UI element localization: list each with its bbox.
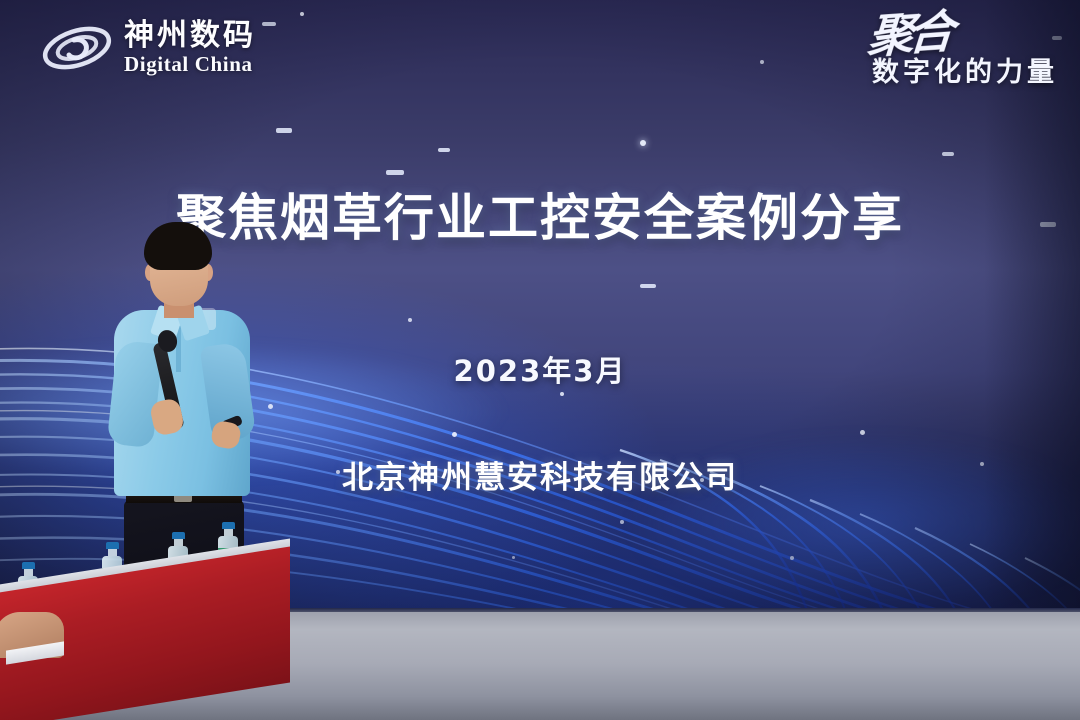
event-logo: 聚合 数字化的力量 <box>868 12 1058 89</box>
logo-chinese-name: 神州数码 <box>124 21 256 51</box>
event-logo-script: 聚合 <box>866 9 950 59</box>
conference-stage-photo: 神州数码 Digital China 聚合 数字化的力量 聚焦烟草行业工控安全案… <box>0 0 1080 720</box>
speaker-hair <box>144 222 212 270</box>
logo-english-name: Digital China <box>124 54 256 75</box>
digital-china-logo: 神州数码 Digital China <box>40 18 256 78</box>
screen-right-shadow <box>984 0 1080 620</box>
digital-china-spiral-logo-icon <box>40 18 114 78</box>
